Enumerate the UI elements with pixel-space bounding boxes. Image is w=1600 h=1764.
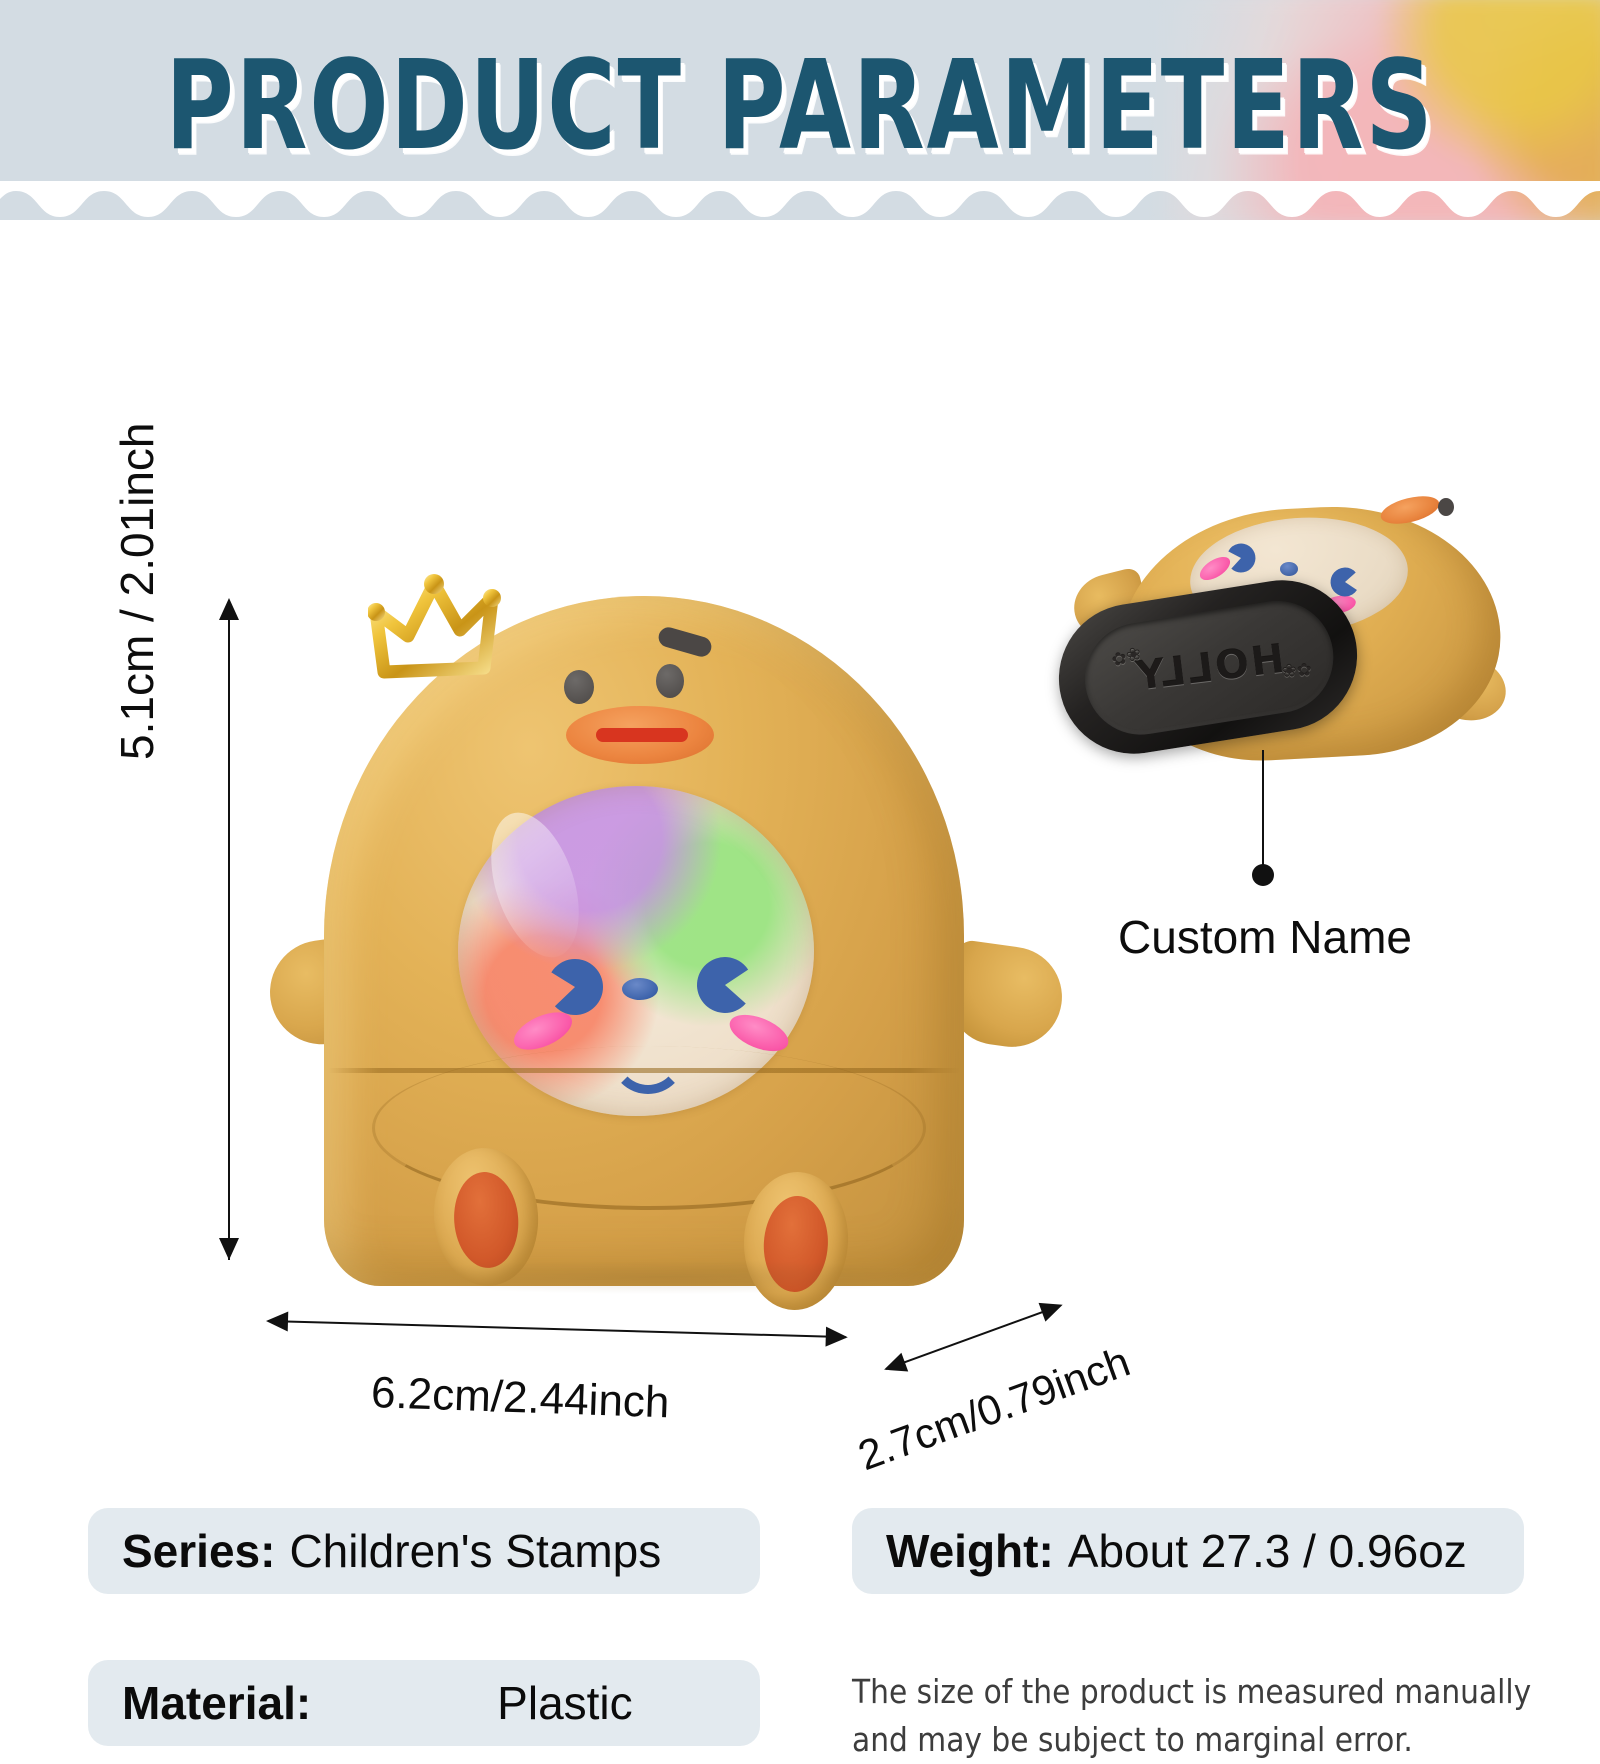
spec-row-series: Series: Children's Stamps	[88, 1508, 760, 1594]
custom-name-label: Custom Name	[1010, 910, 1520, 964]
width-dimension-label: 6.2cm/2.44inch	[370, 1368, 670, 1428]
stamp-pad-surface: HOLLY ✿❀ ❀✿	[1077, 593, 1341, 743]
product-bottom-view-image: HOLLY ✿❀ ❀✿	[1050, 490, 1520, 830]
spec-value-series: Children's Stamps	[289, 1524, 661, 1578]
spec-key-material: Material:	[122, 1676, 311, 1730]
callout-leader-line	[1262, 750, 1264, 868]
arrow-left-icon	[881, 1353, 909, 1379]
page-title: PRODUCT PARAMETERS	[24, 34, 1576, 177]
spec-key-series: Series:	[122, 1524, 275, 1578]
arrow-down-icon	[219, 1238, 239, 1260]
alt-nose	[1280, 562, 1298, 576]
leader-dot-icon	[1252, 864, 1274, 886]
spec-row-material: Material: Plastic	[88, 1660, 760, 1746]
nose	[622, 978, 658, 1000]
spec-key-weight: Weight:	[886, 1524, 1054, 1578]
measurement-disclaimer: The size of the product is measured manu…	[852, 1668, 1532, 1764]
duck-eye-right	[656, 664, 684, 698]
product-drop-shadow	[382, 1260, 942, 1294]
product-stage: 5.1cm / 2.01inch	[0, 220, 1600, 1600]
alt-duck-eye	[1438, 498, 1454, 516]
height-dimension-line	[228, 606, 230, 1260]
product-main-image	[262, 560, 1062, 1320]
arrow-left-icon	[266, 1311, 289, 1332]
alt-eye-right	[1327, 565, 1363, 599]
crown-icon	[368, 568, 508, 692]
header-banner: PRODUCT PARAMETERS	[0, 0, 1600, 220]
stamp-decor-right: ❀✿	[1281, 659, 1312, 682]
eye-left	[541, 953, 609, 1021]
wavy-divider	[0, 181, 1600, 220]
eye-right	[692, 952, 758, 1018]
arrow-right-icon	[826, 1327, 849, 1348]
spec-row-weight: Weight: About 27.3 / 0.96oz	[852, 1508, 1524, 1594]
height-dimension-label: 5.1cm / 2.01inch	[110, 422, 164, 760]
alt-eye-left	[1221, 539, 1260, 576]
spec-value-material: Plastic	[497, 1676, 632, 1730]
foot-left-inner	[451, 1170, 522, 1270]
duck-beak-line	[596, 728, 688, 742]
duck-eye-left	[564, 670, 594, 704]
spec-value-weight: About 27.3 / 0.96oz	[1068, 1524, 1467, 1578]
infographic-page: PRODUCT PARAMETERS 5.1cm / 2.01inch	[0, 0, 1600, 1600]
width-dimension-line	[268, 1320, 846, 1338]
